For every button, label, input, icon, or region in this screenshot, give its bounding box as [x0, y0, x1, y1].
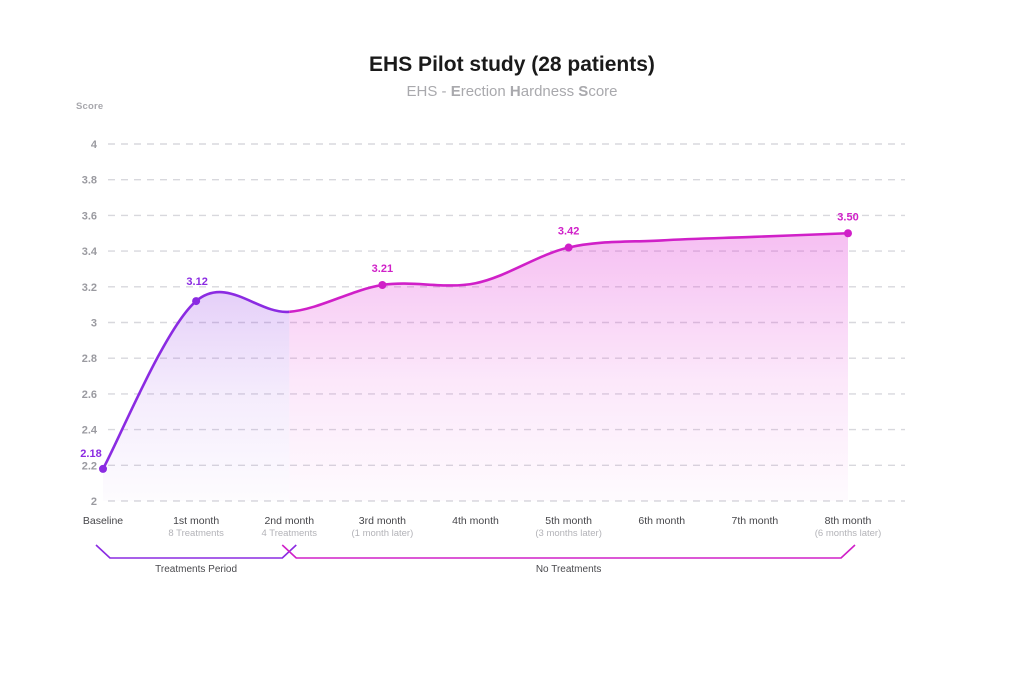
area-fills	[103, 233, 848, 501]
data-point-marker[interactable]	[99, 465, 107, 473]
y-axis-tick-label: 3.8	[82, 175, 97, 187]
data-point-label: 3.12	[186, 276, 207, 288]
x-axis-tick-label: 6th month	[638, 515, 685, 527]
chart-subtitle: EHS - Erection Hardness Score	[0, 81, 1024, 103]
subtitle-core: core	[588, 83, 617, 100]
x-axis-tick-label: 4th month	[452, 515, 499, 527]
y-axis-tick-label: 3.6	[82, 210, 97, 222]
period-bracket-label: Treatments Period	[155, 564, 237, 575]
y-axis-title: Score	[76, 101, 103, 112]
x-axis-tick-label: 5th month	[545, 515, 592, 527]
y-axis-tick-label: 3.2	[82, 282, 97, 294]
title-block: EHS Pilot study (28 patients) EHS - Erec…	[0, 52, 1024, 103]
data-point-label: 3.50	[837, 211, 858, 223]
x-axis-tick-sublabel: 4 Treatments	[262, 528, 318, 539]
period-bracket-label: No Treatments	[536, 564, 602, 575]
y-axis-tick-label: 2.6	[82, 389, 97, 401]
data-point-marker[interactable]	[844, 229, 852, 237]
subtitle-ardness: ardness	[521, 83, 579, 100]
data-point-marker[interactable]	[565, 244, 573, 252]
y-axis-tick-label: 2.8	[82, 353, 97, 365]
y-axis-tick-label: 2	[91, 496, 97, 508]
y-axis-tick-label: 2.4	[82, 425, 98, 437]
y-axis-tick-label: 3	[91, 318, 97, 330]
chart-container: EHS Pilot study (28 patients) EHS - Erec…	[0, 0, 1024, 677]
x-axis-tick-sublabel: (1 month later)	[351, 528, 413, 539]
x-axis-tick-label: 7th month	[732, 515, 779, 527]
data-point-marker[interactable]	[378, 281, 386, 289]
data-point-label: 3.21	[372, 263, 393, 275]
subtitle-rection: rection	[461, 83, 510, 100]
x-axis-tick-label: 8th month	[825, 515, 872, 527]
data-point-label: 3.42	[558, 226, 579, 238]
period-bracket	[282, 545, 855, 558]
subtitle-prefix: EHS -	[407, 83, 451, 100]
data-point-marker[interactable]	[192, 297, 200, 305]
x-axis-ticks: Baseline1st month8 Treatments2nd month4 …	[83, 515, 881, 539]
y-axis-tick-label: 4	[91, 139, 98, 151]
x-axis-tick-sublabel: (3 months later)	[535, 528, 602, 539]
y-axis-tick-label: 2.2	[82, 460, 97, 472]
period-bracket	[96, 545, 296, 558]
subtitle-initial-h: H	[510, 83, 521, 100]
period-brackets: Treatments PeriodNo Treatments	[96, 545, 855, 575]
page-title: EHS Pilot study (28 patients)	[0, 52, 1024, 78]
x-axis-tick-label: Baseline	[83, 515, 123, 527]
x-axis-tick-label: 1st month	[173, 515, 219, 527]
x-axis-tick-label: 3rd month	[359, 515, 406, 527]
data-point-label: 2.18	[80, 448, 101, 460]
x-axis-tick-sublabel: (6 months later)	[815, 528, 882, 539]
subtitle-initial-e: E	[451, 83, 461, 100]
x-axis-tick-label: 2nd month	[264, 515, 314, 527]
x-axis-tick-sublabel: 8 Treatments	[168, 528, 224, 539]
subtitle-initial-s: S	[578, 83, 588, 100]
y-axis-tick-label: 3.4	[82, 246, 98, 258]
